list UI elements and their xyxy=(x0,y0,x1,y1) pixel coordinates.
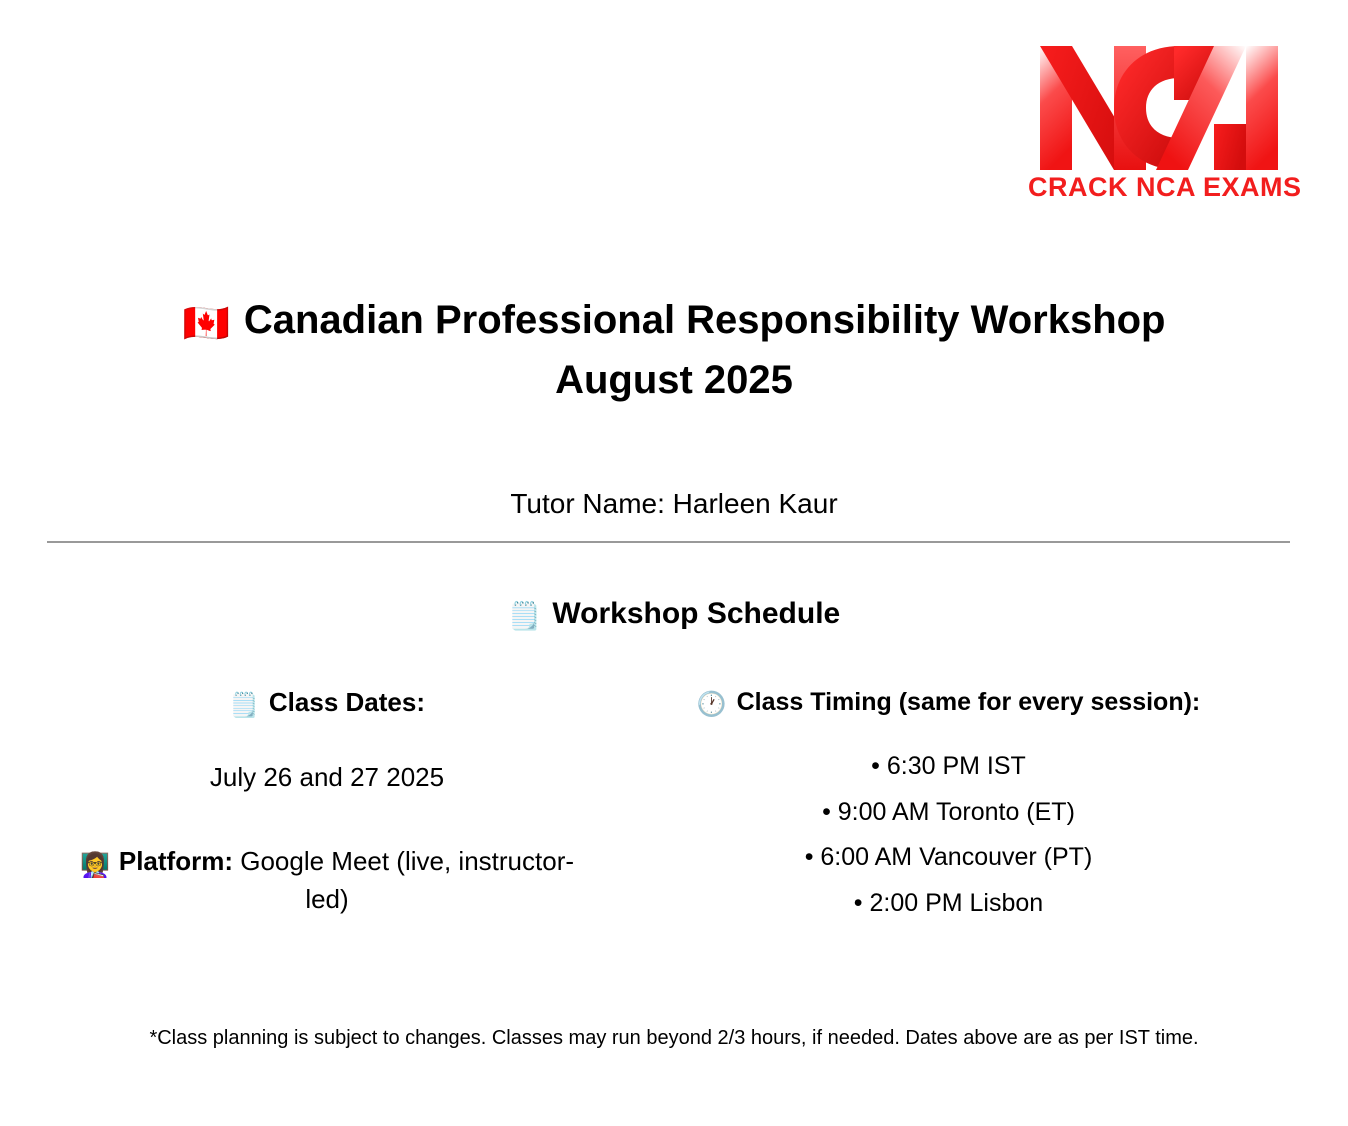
class-timing-column: 🕐Class Timing (same for every session): … xyxy=(607,686,1290,926)
spiral-notepad-icon: 🗒️ xyxy=(229,692,259,719)
schedule-columns: 🗒️Class Dates: July 26 and 27 2025 👩‍🏫Pl… xyxy=(47,686,1290,926)
class-dates-value: July 26 and 27 2025 xyxy=(67,759,587,796)
main-title: 🇨🇦Canadian Professional Responsibility W… xyxy=(0,292,1348,409)
class-timing-label: Class Timing (same for every session): xyxy=(737,688,1201,716)
platform-value: Google Meet (live, instructor-led) xyxy=(240,846,574,914)
list-item: • 6:30 PM IST xyxy=(617,744,1280,790)
platform-line: 👩‍🏫Platform: Google Meet (live, instruct… xyxy=(67,844,587,918)
tutor-name: Tutor Name: Harleen Kaur xyxy=(0,484,1348,523)
section-divider xyxy=(47,541,1290,543)
page-title: 🇨🇦Canadian Professional Responsibility W… xyxy=(0,292,1348,409)
main-title-line-2: August 2025 xyxy=(60,352,1288,409)
main-title-line-1: Canadian Professional Responsibility Wor… xyxy=(244,298,1166,342)
clock-icon: 🕐 xyxy=(697,691,727,718)
nca-monogram-logo-icon xyxy=(1028,38,1290,178)
spiral-notepad-icon: 🗒️ xyxy=(508,601,542,631)
canada-flag-icon: 🇨🇦 xyxy=(183,303,230,345)
class-dates-column: 🗒️Class Dates: July 26 and 27 2025 👩‍🏫Pl… xyxy=(47,686,607,918)
brand-logo: CRACK NCA EXAMS xyxy=(1028,38,1290,201)
class-dates-label: Class Dates: xyxy=(269,687,425,717)
platform-label: Platform: xyxy=(119,846,233,876)
list-item: • 6:00 AM Vancouver (PT) xyxy=(617,835,1280,881)
workshop-schedule-label: Workshop Schedule xyxy=(552,597,840,630)
list-item: • 9:00 AM Toronto (ET) xyxy=(617,790,1280,836)
workshop-schedule-heading: 🗒️Workshop Schedule xyxy=(0,594,1348,635)
list-item: • 2:00 PM Lisbon xyxy=(617,881,1280,927)
class-dates-heading: 🗒️Class Dates: xyxy=(67,686,587,721)
class-timing-heading: 🕐Class Timing (same for every session): xyxy=(617,686,1280,720)
teacher-icon: 👩‍🏫 xyxy=(80,852,110,879)
brand-wordmark: CRACK NCA EXAMS xyxy=(1028,174,1290,201)
footer-disclaimer: *Class planning is subject to changes. C… xyxy=(0,1024,1348,1052)
class-timing-list: • 6:30 PM IST • 9:00 AM Toronto (ET) • 6… xyxy=(617,744,1280,926)
